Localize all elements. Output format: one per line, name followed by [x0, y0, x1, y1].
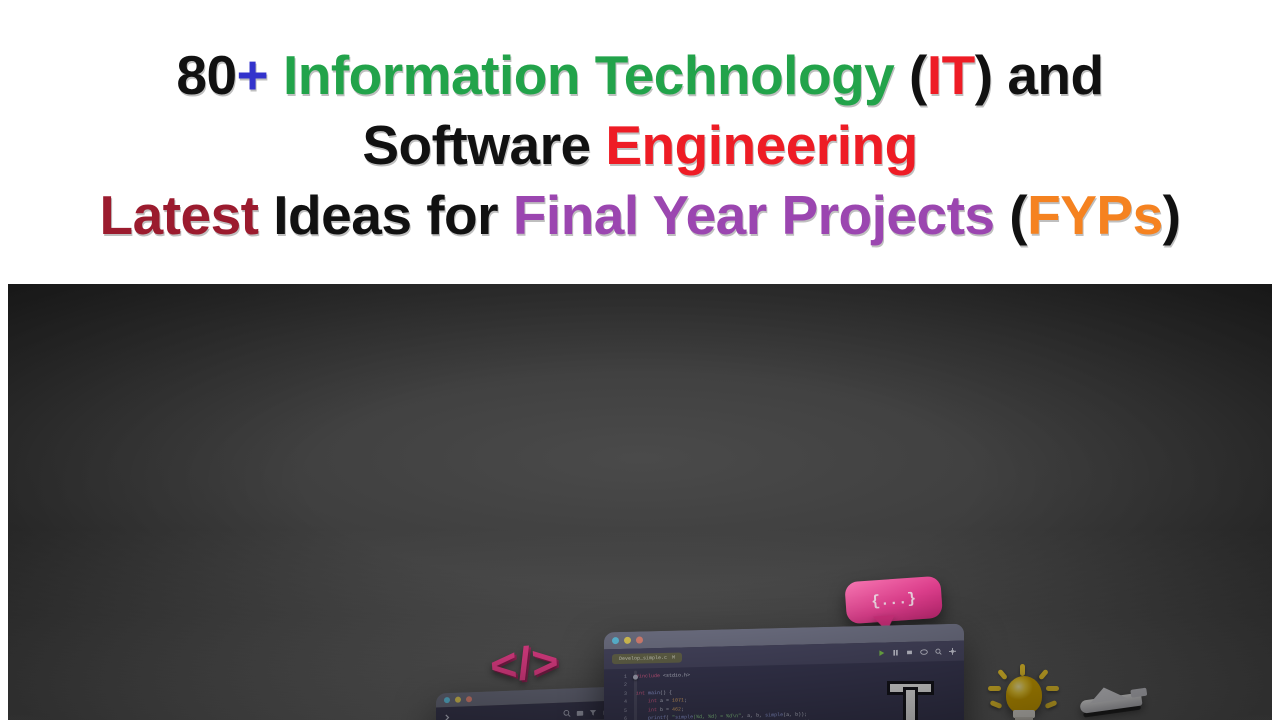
branch-icon[interactable] — [444, 713, 453, 720]
ibeam-stem — [906, 690, 915, 720]
tab-close-icon[interactable]: M — [672, 655, 675, 661]
record-icon[interactable] — [920, 648, 928, 655]
window-dot-yellow[interactable] — [455, 697, 461, 703]
window-dot-blue[interactable] — [612, 637, 619, 644]
file-tree-window[interactable]: vProject>prototypevDevelopDevelop_simple… — [436, 687, 618, 720]
hero-illustration: </> {...} — [8, 284, 1272, 720]
window-dot-blue[interactable] — [444, 697, 450, 703]
search-icon[interactable] — [935, 648, 942, 655]
title-segment: ( — [995, 184, 1028, 246]
window-dot-red[interactable] — [466, 696, 472, 702]
title-segment: Engineering — [605, 114, 917, 176]
ibeam-cursor-icon — [886, 682, 936, 720]
filter-icon[interactable] — [589, 708, 597, 716]
bulb-ray — [1045, 700, 1058, 709]
bulb-ray — [990, 700, 1003, 709]
bulb-ray — [988, 686, 1001, 691]
title-segment: Ideas — [258, 184, 426, 246]
title-segment: for — [426, 184, 513, 246]
bulb-ray — [1020, 664, 1025, 676]
title-segment: FYPs — [1027, 184, 1163, 246]
line-number-gutter: 1 2 3 4 5 6 7 8 9 10 11 12 13 14 15 16 1… — [604, 673, 630, 720]
title-segment: Final Year Projects — [513, 184, 995, 246]
title-segment: IT — [927, 44, 975, 106]
play-icon[interactable] — [878, 649, 885, 656]
bulb-glass — [1006, 676, 1042, 714]
tree-toolbar — [442, 705, 612, 720]
bulb-ray — [1046, 686, 1059, 691]
bulb-ray — [1038, 669, 1049, 681]
lightbulb-icon — [986, 664, 1060, 720]
code-symbol-label: </> — [488, 635, 561, 692]
title-line-2: Software Engineering — [362, 110, 917, 180]
title-segment: ( — [894, 44, 927, 106]
rocket-icon — [1073, 677, 1158, 720]
search-icon[interactable] — [563, 709, 571, 717]
stop-icon[interactable] — [906, 648, 913, 655]
window-dot-yellow[interactable] — [624, 637, 631, 644]
braces-label: {...} — [871, 590, 917, 610]
tree-toolbar-icons — [563, 707, 610, 717]
title-segment — [268, 44, 283, 106]
title-segment: ) — [1163, 184, 1181, 246]
title-segment: ) and — [975, 44, 1104, 106]
settings-icon[interactable] — [949, 647, 956, 654]
title-segment: + — [237, 44, 269, 106]
title-segment: Information Technology — [283, 44, 894, 106]
code-symbol-icon: </> — [488, 632, 595, 691]
window-dot-red[interactable] — [636, 636, 643, 643]
tab-label: Develop_simple.c — [619, 655, 667, 662]
code-toolbar — [878, 647, 956, 656]
title-block: 80+ Information Technology (IT) and Soft… — [0, 0, 1280, 284]
rocket-tail — [1130, 688, 1147, 698]
title-segment: Latest — [99, 184, 258, 246]
bulb-ray — [997, 669, 1008, 681]
page-root: 80+ Information Technology (IT) and Soft… — [0, 0, 1280, 720]
pause-icon[interactable] — [892, 649, 899, 656]
title-line-1: 80+ Information Technology (IT) and — [176, 40, 1103, 110]
title-segment: 80 — [176, 44, 236, 106]
folder-icon[interactable] — [576, 708, 584, 716]
tab-develop-simple-c[interactable]: Develop_simple.c M — [612, 652, 682, 664]
title-segment: Software — [362, 114, 605, 176]
title-line-3: Latest Ideas for Final Year Projects (FY… — [99, 180, 1180, 250]
